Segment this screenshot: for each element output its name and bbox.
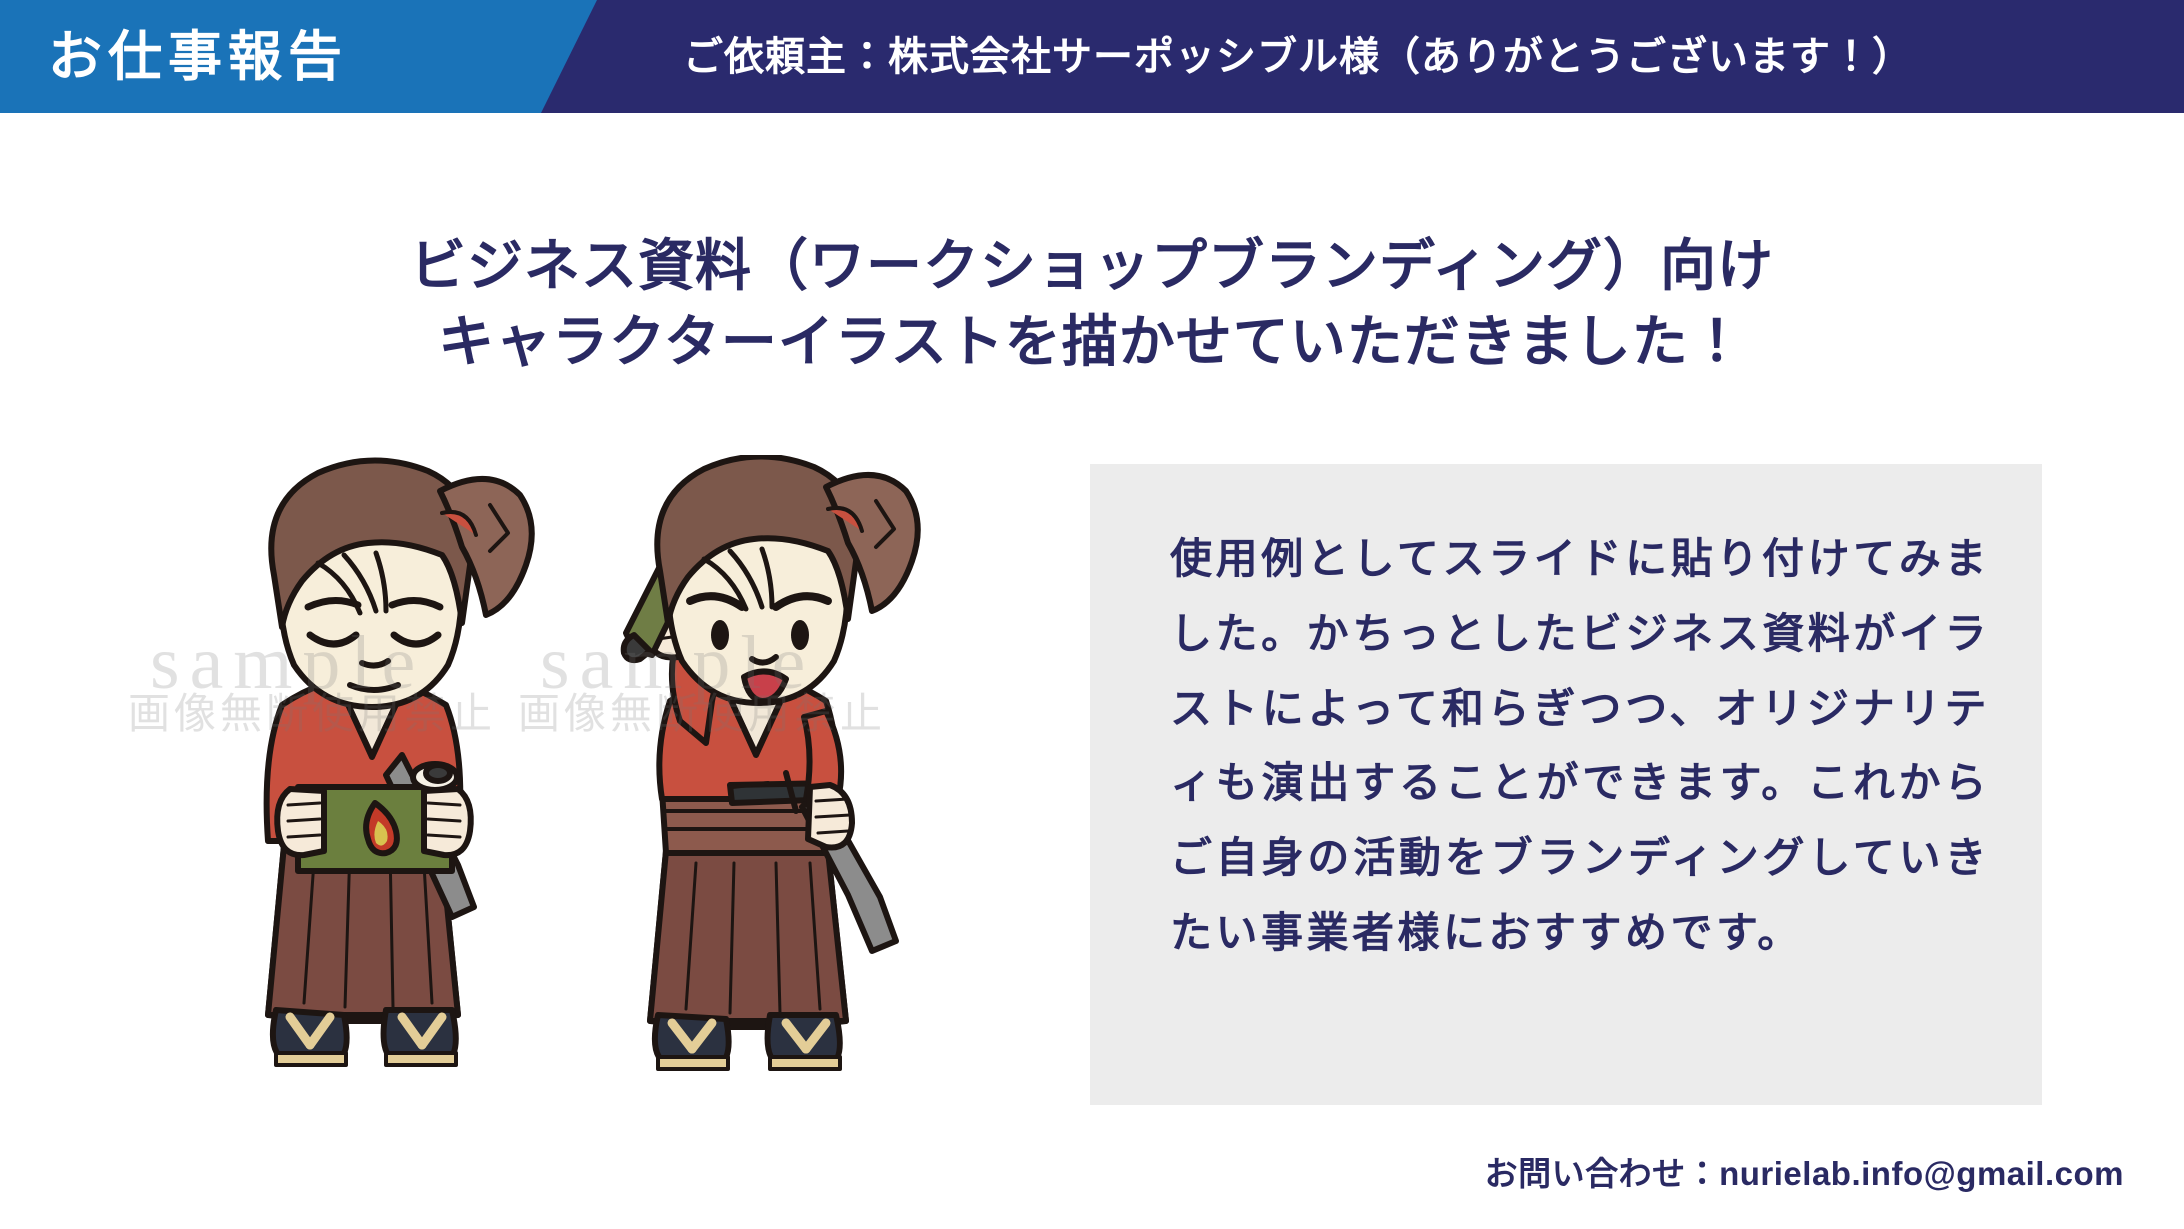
header-banner: お仕事報告 ご依頼主：株式会社サーポッシブル様（ありがとうございます！） (0, 0, 2184, 113)
illustration-area: sample 画像無断使用禁止 sample 画像無断使用禁止 (150, 455, 1040, 1085)
banner-title: お仕事報告 (48, 30, 348, 84)
page-title-line-1: ビジネス資料（ワークショップブランディング）向け (0, 228, 2184, 304)
page-title: ビジネス資料（ワークショップブランディング）向け キャラクターイラストを描かせて… (0, 228, 2184, 379)
banner-client-credit: ご依頼主：株式会社サーポッシブル様（ありがとうございます！） (683, 37, 1913, 77)
description-text: 使用例としてスライドに貼り付けてみました。かちっとしたビジネス資料がイラストによ… (1170, 522, 1990, 971)
description-panel: 使用例としてスライドに貼り付けてみました。かちっとしたビジネス資料がイラストによ… (1090, 464, 2042, 1105)
contact-info: お問い合わせ：nurielab.info@gmail.com (1485, 1147, 2124, 1195)
character-illustration-left (190, 455, 560, 1085)
page-title-line-2: キャラクターイラストを描かせていただきました！ (0, 304, 2184, 380)
character-illustration-right (580, 455, 950, 1085)
slide-canvas: お仕事報告 ご依頼主：株式会社サーポッシブル様（ありがとうございます！） ビジネ… (0, 0, 2184, 1229)
